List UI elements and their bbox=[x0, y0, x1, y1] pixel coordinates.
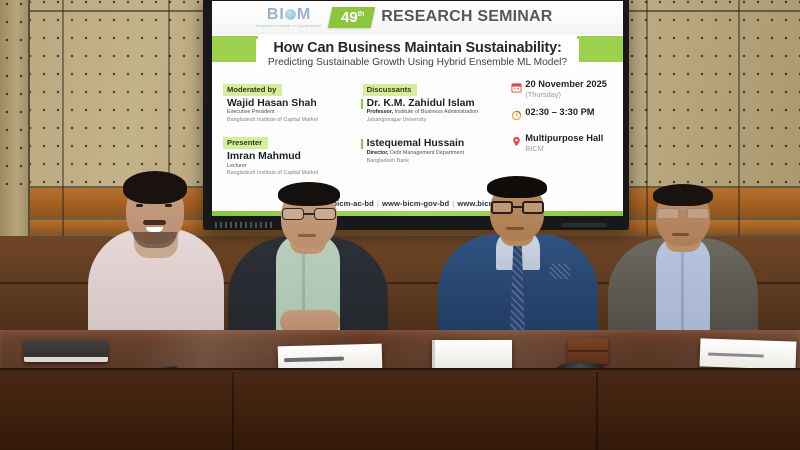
slide-title-line1: How Can Business Maintain Sustainability… bbox=[256, 39, 579, 57]
event-venue-sub: BICM bbox=[525, 144, 603, 154]
event-date: 20 November 2025 bbox=[525, 79, 607, 90]
panelist-3-mouth bbox=[506, 227, 524, 230]
discussant-2-entry: Istequemal Hussain Director, Debt Manage… bbox=[363, 138, 504, 166]
slide-body: Moderated by Wajid Hasan Shah Executive … bbox=[212, 73, 623, 185]
discussant-2-org: Bangladesh Bank bbox=[367, 158, 504, 166]
location-pin-icon bbox=[511, 133, 525, 152]
panelist-1 bbox=[86, 168, 226, 343]
slide-title-block: How Can Business Maintain Sustainability… bbox=[212, 34, 623, 73]
panelist-3 bbox=[438, 176, 598, 342]
moderator-role: Executive President bbox=[227, 109, 352, 117]
bicm-logo: BIM Bangladesh Institute of Capital Mark… bbox=[212, 7, 324, 28]
logo-tagline: Bangladesh Institute of Capital Market bbox=[256, 24, 321, 28]
column-discussants: Discussants Dr. K.M. Zahidul Islam Profe… bbox=[352, 79, 504, 185]
panelist-2-hair bbox=[278, 182, 340, 206]
panelist-1-eye-left bbox=[136, 204, 143, 207]
moderator-org: Bangladesh Institute of Capital Market bbox=[227, 117, 352, 125]
panelist-1-moustache bbox=[143, 220, 166, 225]
panelist-2-mouth bbox=[298, 234, 316, 237]
clock-icon bbox=[511, 107, 525, 126]
acoustic-perforation-pattern bbox=[0, 0, 30, 185]
panelist-1-eye-right bbox=[165, 204, 172, 207]
table-reflection bbox=[0, 330, 800, 372]
label-discussants: Discussants bbox=[363, 84, 418, 96]
conference-table-front bbox=[0, 368, 800, 450]
conference-table-top bbox=[0, 330, 800, 372]
table-panel-seam bbox=[596, 372, 598, 450]
discussant-2-role-title: Director, bbox=[367, 150, 389, 156]
column-event-details: 20 November 2025 (Thursday) bbox=[503, 79, 623, 185]
discussant-1-role: Professor, Institute of Business Adminis… bbox=[367, 109, 504, 117]
logo-text-left: BI bbox=[267, 7, 285, 23]
discussant-2-role: Director, Debt Management Department bbox=[367, 150, 504, 158]
column-moderator-presenter: Moderated by Wajid Hasan Shah Executive … bbox=[212, 79, 352, 185]
discussant-1-org: Jahangirnagar University bbox=[367, 117, 504, 125]
presenter-org: Bangladesh Institute of Capital Market bbox=[227, 170, 352, 178]
presenter-entry: Imran Mahmud Lecturer Bangladesh Institu… bbox=[223, 151, 352, 179]
seminar-title: RESEARCH SEMINAR bbox=[381, 8, 552, 26]
moderator-entry: Wajid Hasan Shah Executive President Ban… bbox=[223, 98, 352, 126]
globe-icon bbox=[285, 9, 296, 20]
badge-ordinal: th bbox=[358, 11, 365, 18]
panelist-1-hair bbox=[123, 171, 187, 204]
panelist-3-pocket-square bbox=[550, 264, 570, 279]
event-venue-row: Multipurpose Hall BICM bbox=[511, 133, 623, 154]
panelist-4-shirt-placket bbox=[681, 244, 684, 336]
label-presenter: Presenter bbox=[223, 137, 268, 149]
label-moderated-by: Moderated by bbox=[223, 84, 282, 96]
discussant-2-role-detail: Debt Management Department bbox=[389, 150, 465, 156]
panelist-3-glasses bbox=[491, 201, 544, 214]
panelist-4 bbox=[608, 186, 758, 342]
moderator-name: Wajid Hasan Shah bbox=[227, 98, 352, 110]
presenter-role: Lecturer bbox=[227, 163, 352, 171]
discussant-1-role-detail: Institute of Business Administration bbox=[393, 109, 478, 115]
event-date-row: 20 November 2025 (Thursday) bbox=[511, 79, 623, 100]
panelist-3-hair bbox=[487, 176, 547, 198]
event-day: (Thursday) bbox=[525, 90, 607, 100]
discussant-1-entry: Dr. K.M. Zahidul Islam Professor, Instit… bbox=[363, 98, 504, 126]
panelist-4-glasses bbox=[657, 208, 709, 219]
table-panel-seam bbox=[232, 372, 234, 450]
panelist-4-mouth bbox=[672, 233, 689, 236]
seminar-number-badge: 49th bbox=[328, 7, 376, 28]
calendar-icon bbox=[511, 79, 525, 98]
logo-text-right: M bbox=[297, 7, 311, 23]
slide-header: BIM Bangladesh Institute of Capital Mark… bbox=[212, 1, 623, 34]
panelist-4-hair bbox=[653, 184, 713, 206]
event-time-row: 02:30 – 3:30 PM bbox=[511, 107, 623, 126]
photo-scene: BIM Bangladesh Institute of Capital Mark… bbox=[0, 0, 800, 450]
notebook bbox=[24, 340, 108, 362]
discussant-2-name: Istequemal Hussain bbox=[367, 138, 504, 150]
event-venue: Multipurpose Hall bbox=[525, 133, 603, 144]
presenter-name: Imran Mahmud bbox=[227, 151, 352, 163]
leather-folder bbox=[568, 338, 608, 364]
badge-number: 49 bbox=[341, 9, 358, 26]
discussant-1-role-title: Professor, bbox=[367, 109, 393, 115]
panelist-2 bbox=[228, 182, 388, 342]
slide-title-line2: Predicting Sustainable Growth Using Hybr… bbox=[256, 57, 579, 70]
panelist-2-glasses bbox=[282, 208, 336, 220]
paper-stack-right bbox=[700, 338, 797, 369]
event-time: 02:30 – 3:30 PM bbox=[525, 107, 594, 118]
discussant-1-name: Dr. K.M. Zahidul Islam bbox=[367, 98, 504, 110]
